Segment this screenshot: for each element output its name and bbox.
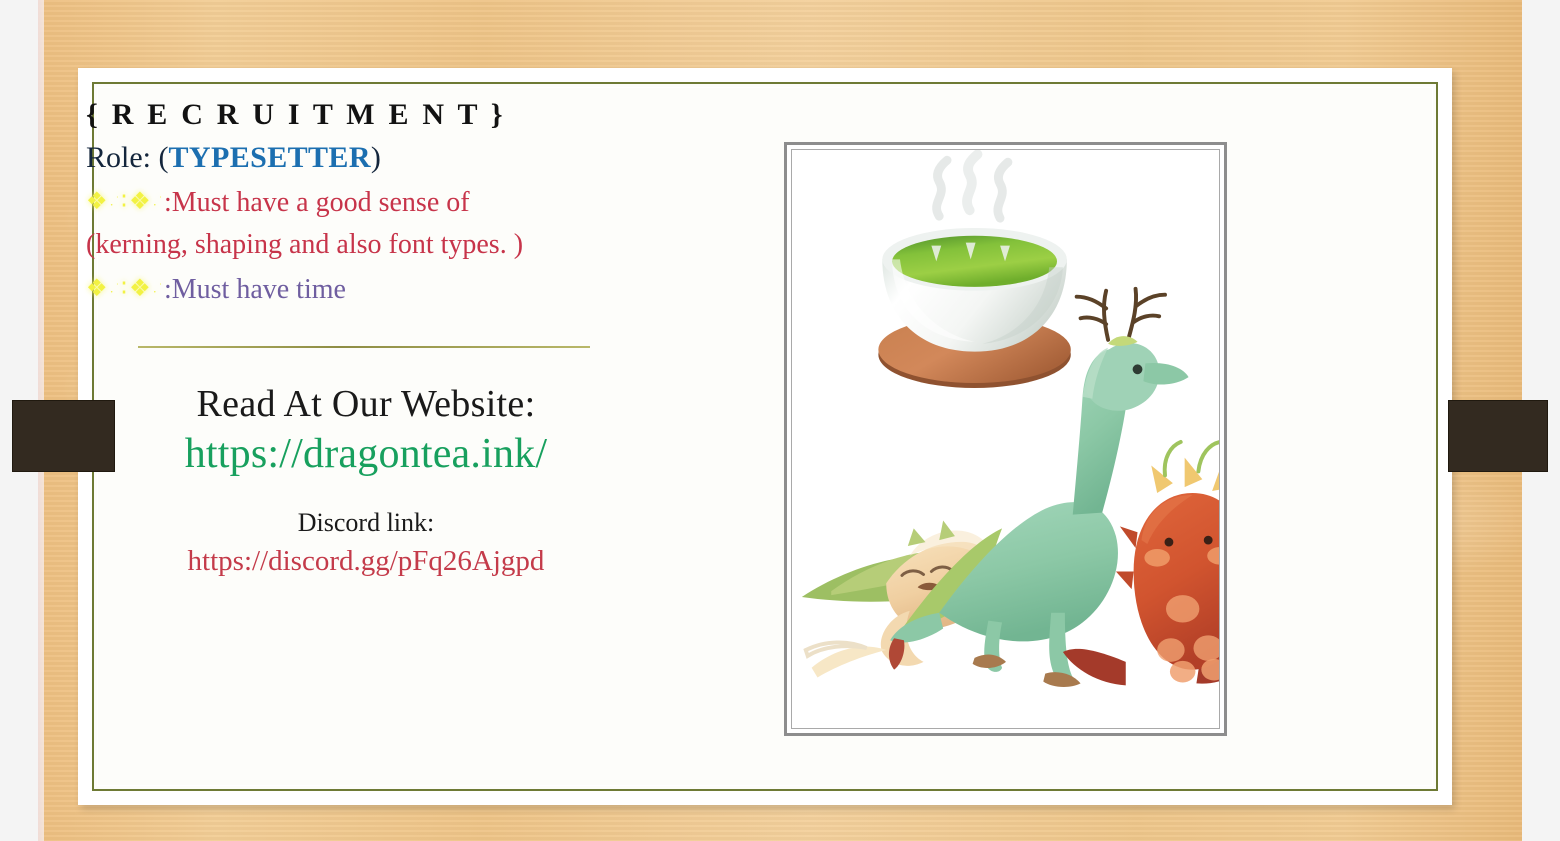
green-dragon-antlers [1077,289,1165,340]
requirement-1-line: ❖·˙∶❖·˙:Must have a good sense of [86,181,706,224]
steam-wisps [937,154,1008,218]
green-dragon-snout [1143,363,1188,384]
requirement-2-text: :Must have time [164,274,346,305]
artwork-panel [784,142,1227,736]
artwork-panel-inner [791,149,1220,729]
right-side-tab[interactable] [1448,400,1548,472]
sparkle-icon-2: ❖·˙∶❖·˙ [86,276,164,302]
section-divider [138,346,590,348]
role-close-paren: ) [371,141,381,174]
requirement-1-text: :Must have a good sense of [164,187,470,218]
requirement-2-line: ❖·˙∶❖·˙:Must have time [86,268,706,311]
role-line: Role: (TYPESETTER) [86,136,706,180]
role-value: TYPESETTER [169,141,371,174]
recruitment-text-column: { R E C R U I T M E N T } Role: (TYPESET… [86,97,706,581]
green-dragon-eye [1133,364,1143,374]
red-dragon-crest [1151,442,1219,493]
red-dragon-foot-left [1170,661,1196,683]
website-block: Read At Our Website: https://dragontea.i… [86,382,646,481]
role-label: Role: ( [86,141,169,174]
requirement-1-continuation: (kerning, shaping and also font types. ) [86,224,706,266]
discord-block: Discord link: https://discord.gg/pFq26Aj… [86,507,646,581]
discord-heading: Discord link: [86,507,646,540]
green-dragon-hind-foot [1043,672,1080,687]
red-dragon-eye-left [1165,538,1174,547]
red-dragon-cheek-left [1144,549,1170,567]
website-heading: Read At Our Website: [86,382,646,428]
red-dragon-eye-right [1204,536,1213,545]
discord-url-link[interactable]: https://discord.gg/pFq26Ajgpd [86,543,646,581]
artwork-illustration [792,150,1219,728]
page-title: { R E C R U I T M E N T } [86,97,706,134]
website-url-link[interactable]: https://dragontea.ink/ [86,429,646,480]
slide-canvas: { R E C R U I T M E N T } Role: (TYPESET… [0,0,1560,841]
sparkle-icon-1: ❖·˙∶❖·˙ [86,189,164,215]
